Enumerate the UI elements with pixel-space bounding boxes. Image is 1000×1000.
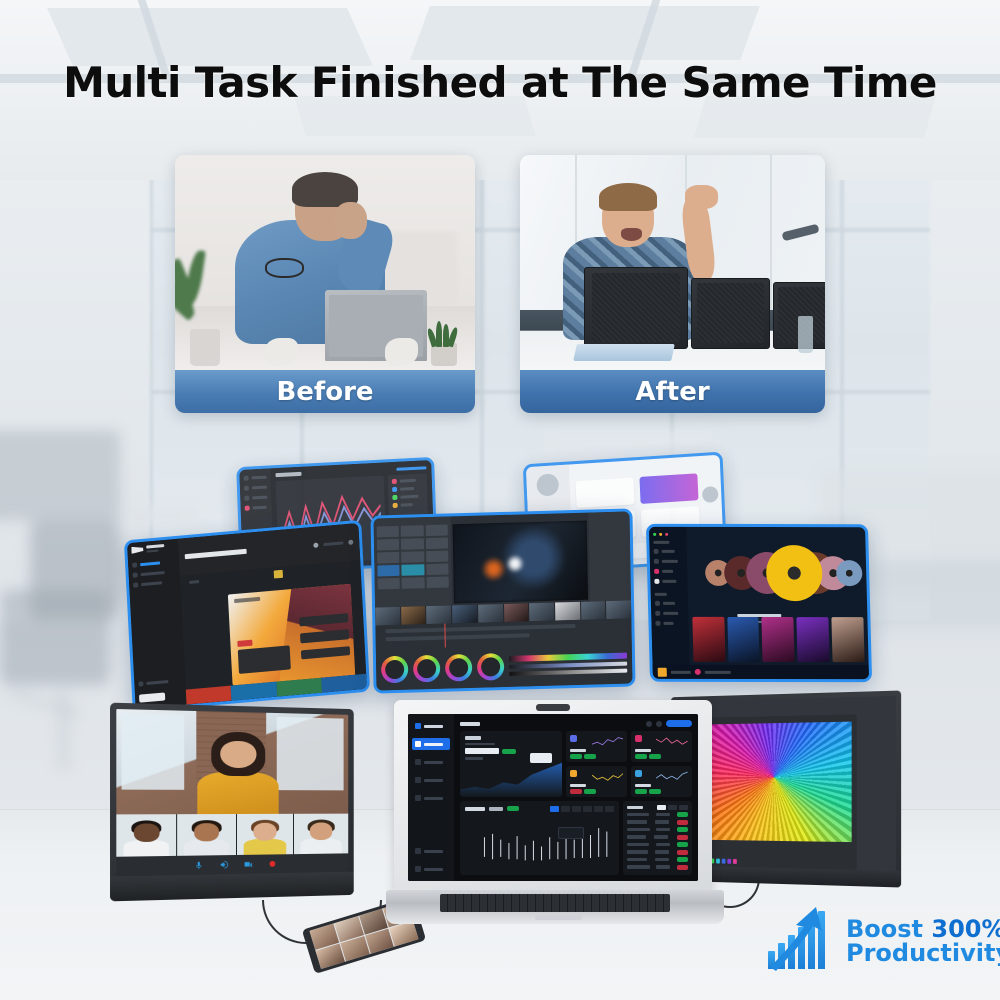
fist-icon: [685, 185, 719, 209]
prism-logo-icon: [131, 546, 143, 554]
nav-wallet[interactable]: [412, 792, 450, 804]
panel-dock[interactable]: [856, 713, 896, 870]
floating-screen-design-app[interactable]: [124, 520, 370, 713]
laptop-screen[interactable]: [408, 714, 698, 881]
now-playing-bar[interactable]: [653, 665, 869, 679]
floating-screen-video-editor[interactable]: [370, 508, 635, 693]
before-label: Before: [175, 370, 475, 413]
coffee-mug: [190, 329, 220, 366]
glasses-icon: [265, 258, 304, 277]
nav-help[interactable]: [412, 845, 450, 857]
spectrum-scope: [509, 653, 627, 662]
sparkline: [656, 735, 688, 747]
speaker-icon[interactable]: [219, 860, 228, 869]
hue-slider[interactable]: [509, 662, 627, 669]
coin-card[interactable]: [566, 731, 627, 762]
webcam-bar: [536, 704, 570, 711]
page-title: Multi Task Finished at The Same Time: [0, 58, 1000, 107]
nav-portfolio[interactable]: [412, 774, 450, 786]
arrow-icon: [766, 905, 840, 977]
participant-4[interactable]: [294, 814, 349, 854]
color-wheel-gain[interactable]: [445, 654, 472, 682]
media-bins[interactable]: [374, 516, 452, 608]
candlesticks: [479, 820, 615, 866]
badge-line2: Productivity: [846, 941, 1000, 965]
assets-area-chart: [460, 761, 562, 796]
coin-card[interactable]: [566, 766, 627, 797]
record-icon[interactable]: [268, 859, 277, 868]
trackpad[interactable]: [535, 915, 582, 920]
before-photo: [175, 155, 475, 370]
luma-slider[interactable]: [509, 669, 627, 676]
color-wheel-gamma[interactable]: [413, 655, 440, 683]
album-cards[interactable]: [692, 617, 864, 663]
markets-panel[interactable]: [623, 801, 692, 875]
candlestick-chart-card[interactable]: [460, 801, 618, 875]
nav-logout[interactable]: [412, 863, 450, 875]
plant-left-icon: [175, 241, 217, 331]
after-card: After: [520, 155, 825, 413]
assets-card[interactable]: [460, 731, 562, 797]
boost-productivity-badge: Boost 300% Productivity: [766, 898, 988, 984]
camera-icon[interactable]: [244, 860, 253, 869]
video-call-monitor[interactable]: [110, 703, 354, 902]
crypto-sidebar[interactable]: [408, 714, 454, 881]
before-card: Before: [175, 155, 475, 413]
participant-thumbnails[interactable]: [116, 814, 348, 857]
mic-icon[interactable]: [194, 860, 203, 869]
sparkline: [592, 735, 624, 747]
after-label: After: [520, 370, 825, 413]
bottle: [798, 316, 813, 353]
notebook: [573, 344, 674, 361]
color-wheels-panel[interactable]: [376, 642, 633, 690]
participant-1[interactable]: [116, 814, 176, 856]
rising-bar-chart-arrow-icon: [766, 905, 840, 977]
coin-card[interactable]: [631, 731, 692, 762]
participant-2[interactable]: [177, 814, 235, 855]
color-wheel-lift[interactable]: [381, 656, 408, 684]
monitor-left: [584, 267, 688, 349]
after-photo: [520, 155, 825, 370]
active-album[interactable]: [765, 545, 822, 601]
laptop[interactable]: [386, 700, 724, 930]
monitor-center: [691, 278, 770, 349]
laptop-base: [386, 890, 724, 924]
sparkline: [656, 770, 688, 782]
before-after-comparison: Before After: [175, 155, 825, 413]
coin-cards[interactable]: [566, 731, 692, 797]
video-call-screen[interactable]: [116, 709, 348, 876]
nav-transactions[interactable]: [412, 756, 450, 768]
nav-home[interactable]: [412, 738, 450, 750]
project-hero-image: [228, 584, 355, 686]
product-marketing-image: Multi Task Finished at The Same Time: [0, 0, 1000, 1000]
sparkline: [592, 770, 624, 782]
vinyl-carousel[interactable]: [686, 533, 867, 612]
floating-screen-music-app[interactable]: [646, 524, 872, 682]
participant-3[interactable]: [236, 814, 292, 855]
plant-right-icon: [424, 318, 463, 365]
color-wheel-offset[interactable]: [477, 653, 504, 681]
preview-monitor: [452, 521, 588, 604]
music-sidebar[interactable]: [649, 527, 690, 679]
main-speaker-tile[interactable]: [116, 709, 348, 814]
coin-card[interactable]: [631, 766, 692, 797]
keyboard[interactable]: [440, 894, 670, 912]
